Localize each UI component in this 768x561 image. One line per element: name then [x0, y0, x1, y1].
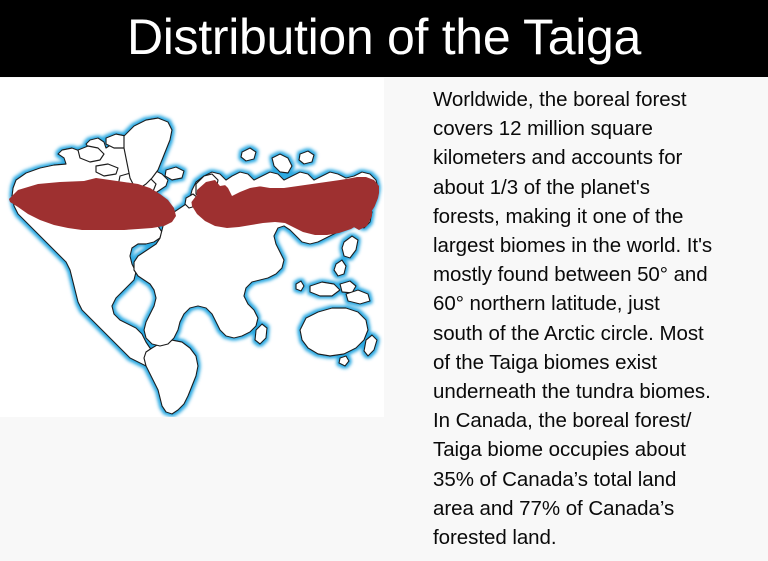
- japan-outline: [342, 236, 358, 258]
- new-zealand-outline: [364, 335, 377, 356]
- world-taiga-distribution-map: [0, 78, 384, 417]
- landmass-group: [12, 118, 378, 414]
- severnaya-zemlya-outline: [299, 151, 314, 164]
- page-title: Distribution of the Taiga: [0, 6, 768, 68]
- philippines-outline: [334, 260, 346, 276]
- madagascar-outline: [255, 324, 267, 344]
- indonesia-outline-1: [310, 282, 340, 296]
- sri-lanka-outline: [296, 281, 304, 291]
- tasmania-outline: [339, 356, 349, 366]
- map-panel: [0, 78, 384, 417]
- svalbard-outline: [241, 148, 256, 161]
- body-paragraph: Worldwide, the boreal forest covers 12 m…: [433, 85, 753, 552]
- iceland-outline: [165, 167, 184, 180]
- slide-canvas: Distribution of the Taiga: [0, 0, 768, 561]
- australia-outline: [300, 308, 368, 356]
- south-america-outline: [144, 340, 198, 414]
- novaya-zemlya-outline: [272, 154, 292, 173]
- title-bar: Distribution of the Taiga: [0, 0, 768, 77]
